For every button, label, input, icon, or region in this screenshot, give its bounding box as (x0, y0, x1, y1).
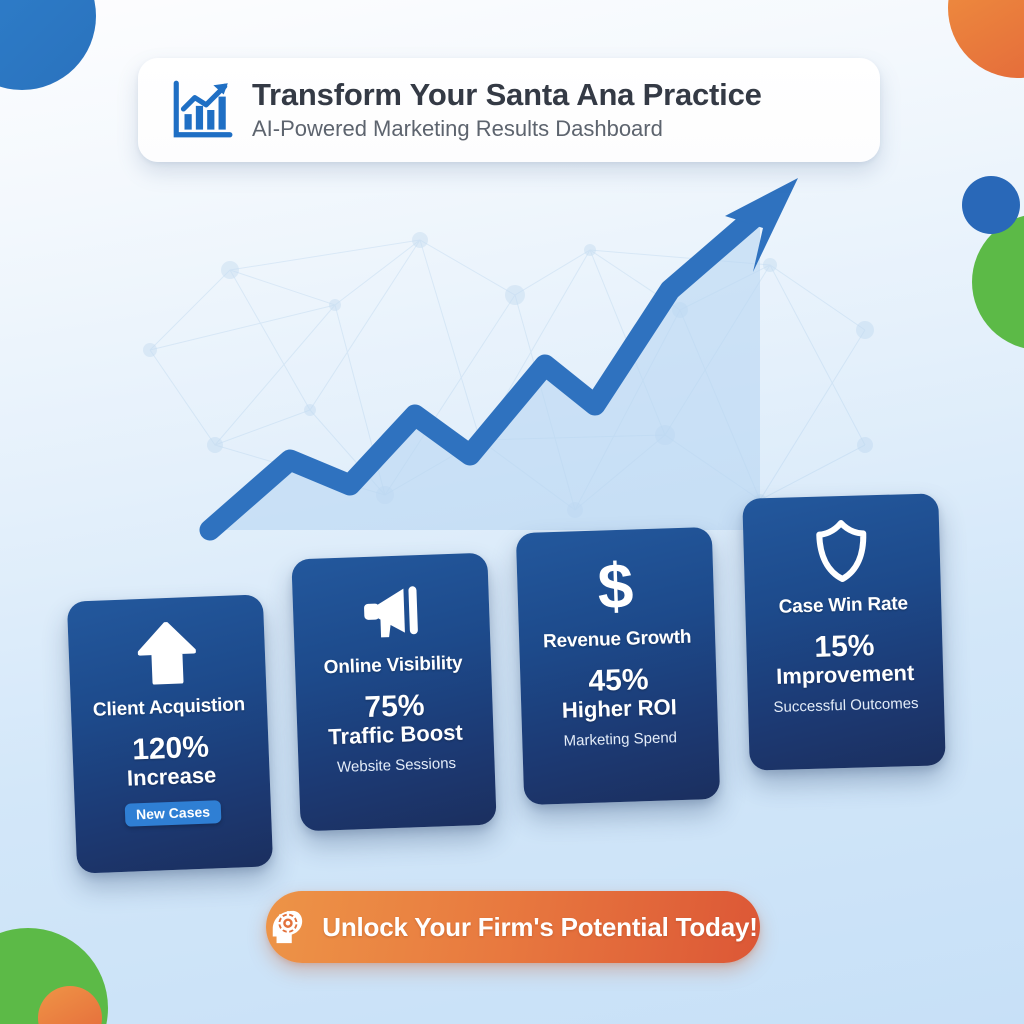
arrow-up-icon (137, 619, 197, 687)
svg-text:$: $ (597, 551, 635, 618)
metric-label: Client Acquistion (93, 695, 246, 722)
brain-gear-head-icon (268, 908, 306, 946)
cta-label: Unlock Your Firm's Potential Today! (322, 912, 757, 943)
metric-value: 15% (814, 630, 875, 663)
metric-sub-label: Marketing Spend (563, 730, 677, 750)
dollar-sign-icon: $ (591, 551, 639, 618)
metric-value-label: Increase (127, 764, 217, 792)
decorative-circle-top-left (0, 0, 96, 90)
metric-label: Revenue Growth (543, 628, 692, 654)
metric-value: 120% (132, 731, 210, 765)
metric-sub-label: Successful Outcomes (773, 696, 918, 717)
metric-sub-label: Website Sessions (337, 755, 456, 776)
page-subtitle: AI-Powered Marketing Results Dashboard (252, 116, 850, 141)
header-text-group: Transform Your Santa Ana Practice AI-Pow… (252, 78, 850, 141)
megaphone-icon (357, 577, 425, 645)
metric-value-label: Traffic Boost (328, 721, 463, 750)
status-badge: New Cases (125, 800, 222, 827)
metric-value-label: Improvement (776, 661, 915, 689)
page-title: Transform Your Santa Ana Practice (252, 78, 850, 112)
cta-button[interactable]: Unlock Your Firm's Potential Today! (266, 891, 760, 963)
metric-value: 75% (364, 690, 425, 724)
infographic-canvas: Transform Your Santa Ana Practice AI-Pow… (0, 0, 1024, 1024)
shield-icon (814, 517, 870, 584)
header-card: Transform Your Santa Ana Practice AI-Pow… (138, 58, 880, 162)
metric-card-online-visibility[interactable]: Online Visibility 75% Traffic Boost Webs… (291, 553, 496, 832)
bar-chart-growth-icon (168, 77, 234, 143)
metric-card-revenue-growth[interactable]: $ Revenue Growth 45% Higher ROI Marketin… (516, 527, 720, 805)
decorative-circle-right-blue (962, 176, 1020, 234)
decorative-circle-top-right (948, 0, 1024, 78)
metric-value: 45% (588, 664, 649, 697)
metric-card-client-acquisition[interactable]: Client Acquistion 120% Increase New Case… (67, 594, 273, 873)
metric-label: Case Win Rate (778, 594, 908, 618)
chart-area-fill (210, 210, 760, 530)
decorative-circle-right-green (972, 214, 1024, 350)
metric-card-case-win-rate[interactable]: Case Win Rate 15% Improvement Successful… (742, 493, 946, 770)
metric-value-label: Higher ROI (562, 696, 678, 724)
metric-label: Online Visibility (323, 654, 462, 680)
